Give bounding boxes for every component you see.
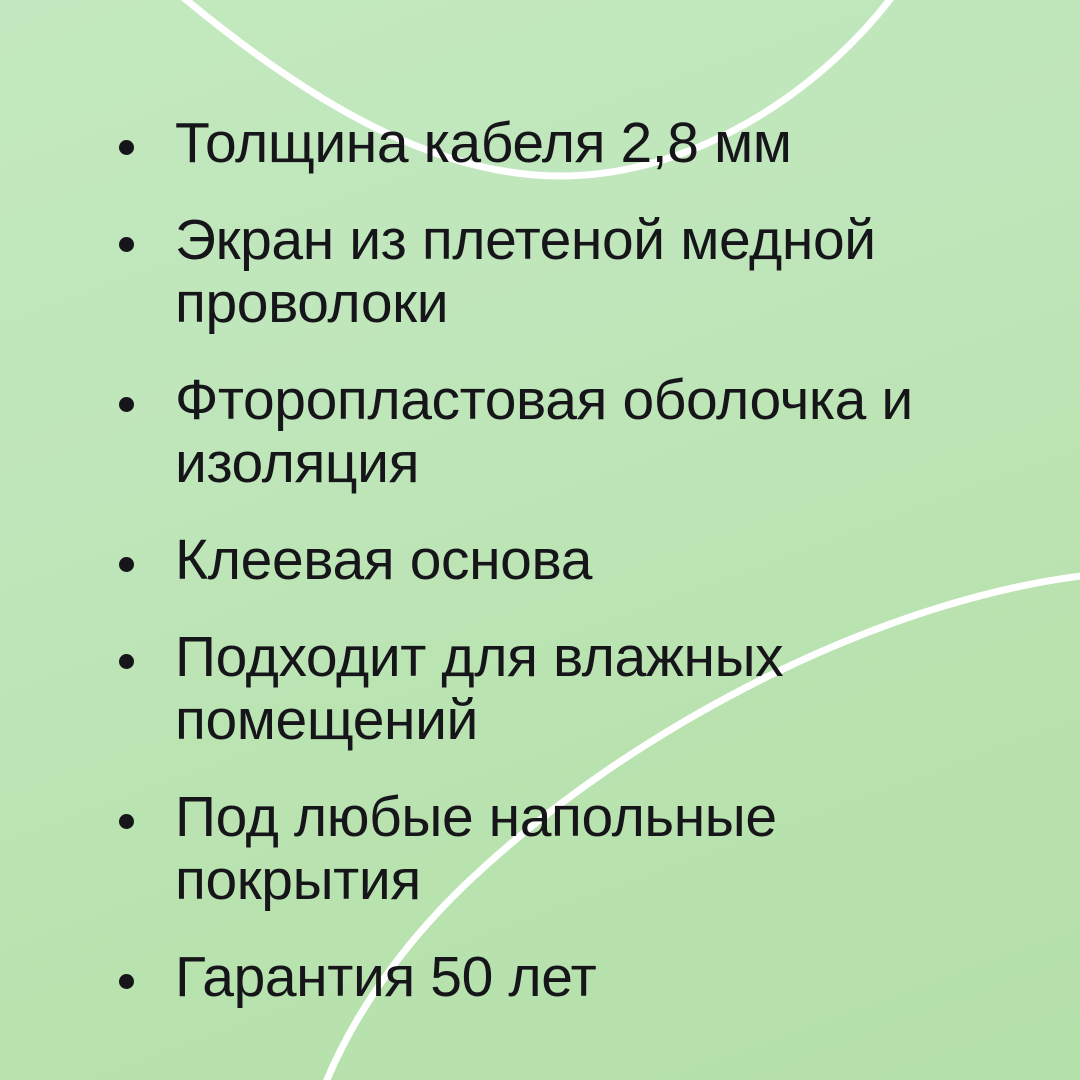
list-item: Толщина кабеля 2,8 мм bbox=[110, 112, 1010, 175]
feature-text: Подходит для влажных помещений bbox=[175, 626, 1010, 752]
promo-slide: Толщина кабеля 2,8 мм Экран из плетеной … bbox=[0, 0, 1080, 1080]
bullet-dot-icon bbox=[119, 974, 134, 989]
list-item: Экран из плетеной медной проволоки bbox=[110, 209, 1010, 335]
feature-text: Толщина кабеля 2,8 мм bbox=[175, 112, 1010, 175]
feature-text: Фторопластовая оболочка и изоляция bbox=[175, 369, 1010, 495]
bullet-dot-icon bbox=[119, 140, 134, 155]
feature-list: Толщина кабеля 2,8 мм Экран из плетеной … bbox=[110, 112, 1010, 1009]
bullet-dot-icon bbox=[119, 557, 134, 572]
bullet-dot-icon bbox=[119, 237, 134, 252]
list-item: Фторопластовая оболочка и изоляция bbox=[110, 369, 1010, 495]
feature-text: Под любые напольные покрытия bbox=[175, 786, 1010, 912]
list-item: Под любые напольные покрытия bbox=[110, 786, 1010, 912]
bullet-dot-icon bbox=[119, 397, 134, 412]
list-item: Гарантия 50 лет bbox=[110, 946, 1010, 1009]
feature-text: Экран из плетеной медной проволоки bbox=[175, 209, 1010, 335]
list-item: Подходит для влажных помещений bbox=[110, 626, 1010, 752]
feature-text: Гарантия 50 лет bbox=[175, 946, 1010, 1009]
feature-text: Клеевая основа bbox=[175, 529, 1010, 592]
list-item: Клеевая основа bbox=[110, 529, 1010, 592]
bullet-dot-icon bbox=[119, 654, 134, 669]
bullet-dot-icon bbox=[119, 814, 134, 829]
